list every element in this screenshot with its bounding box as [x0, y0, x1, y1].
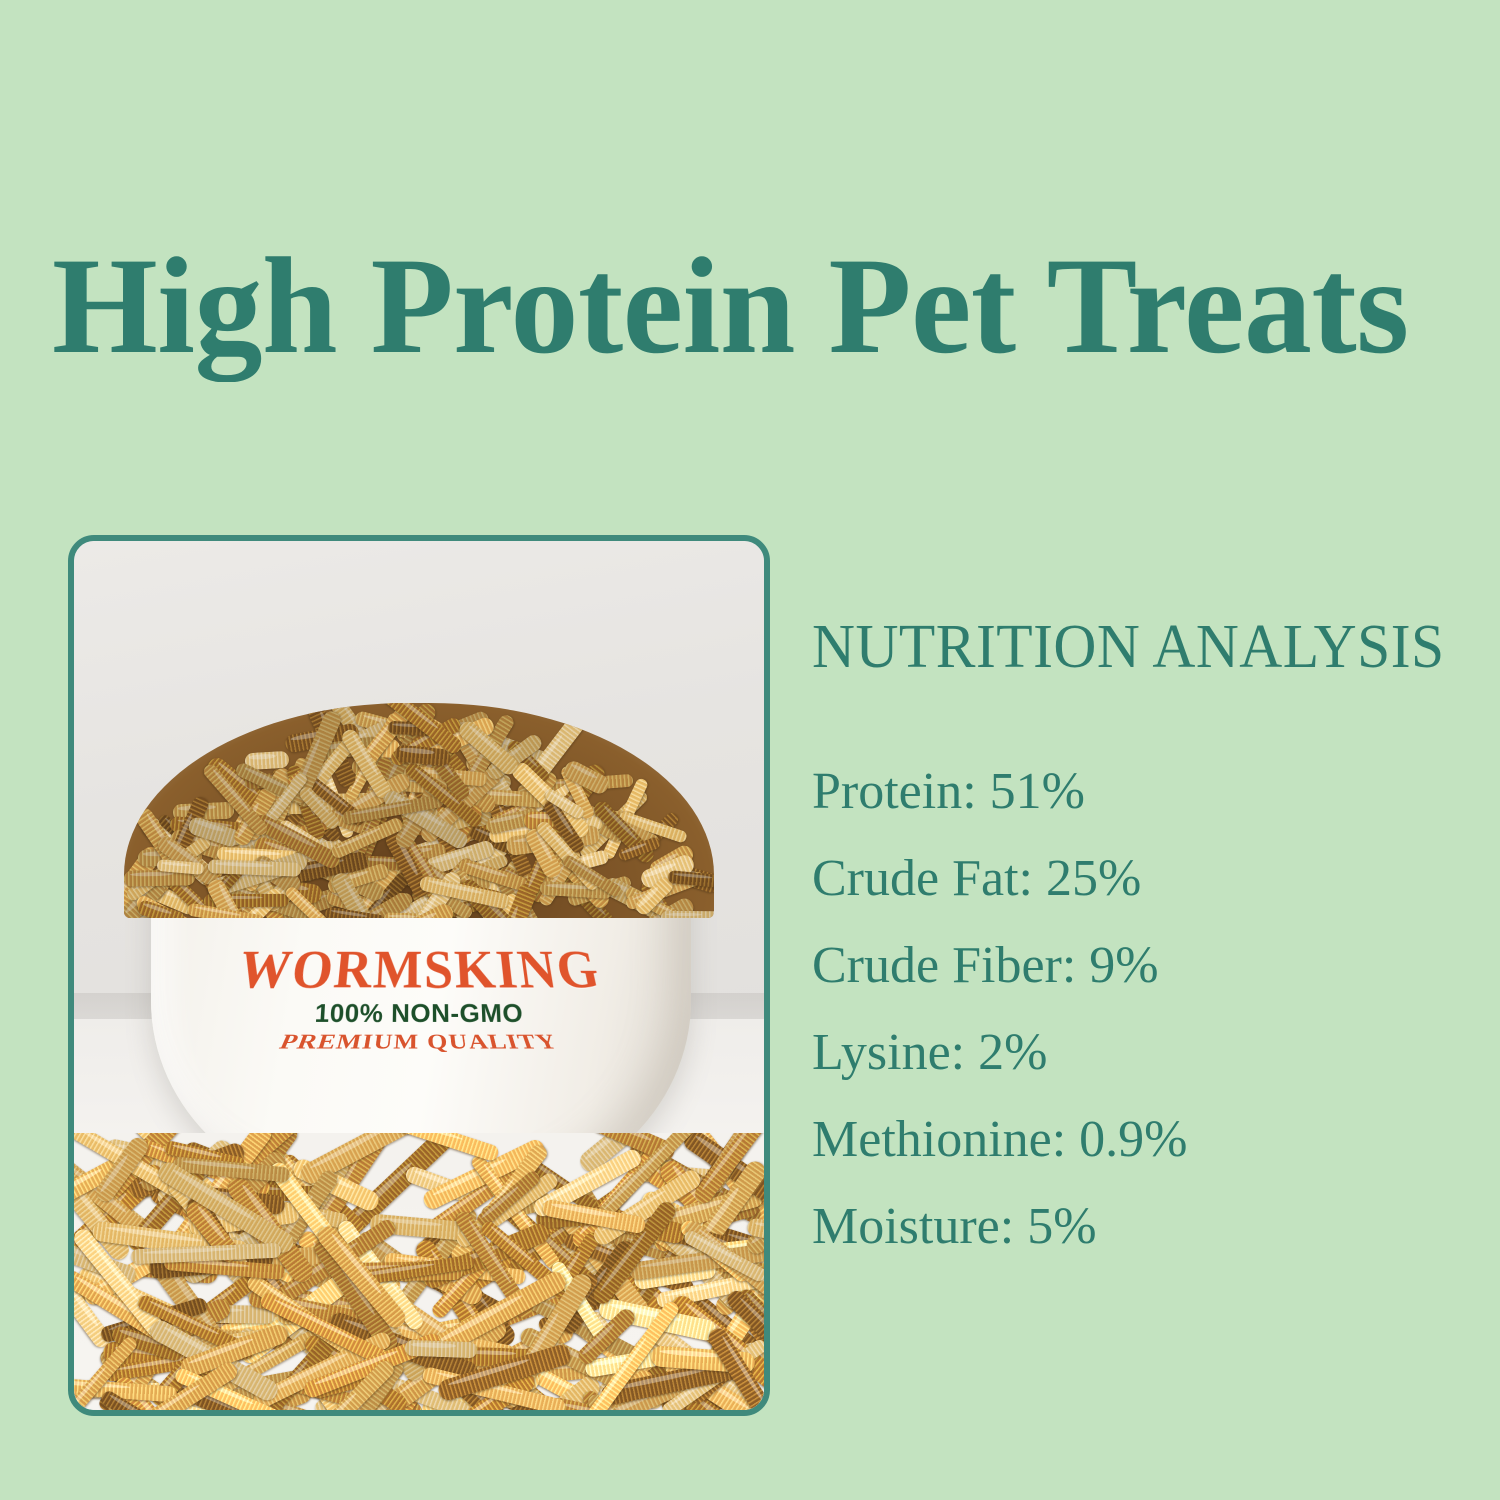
- mealworm: [661, 911, 714, 918]
- nutrition-item: Protein: 51%: [812, 748, 1472, 835]
- scattered-mealworms: [74, 1133, 764, 1410]
- mealworm: [405, 1339, 478, 1358]
- nutrition-list: Protein: 51%Crude Fat: 25%Crude Fiber: 9…: [812, 748, 1472, 1270]
- page-title: High Protein Pet Treats: [52, 236, 1441, 376]
- nutrition-item: Methionine: 0.9%: [812, 1096, 1472, 1183]
- nutrition-item: Moisture: 5%: [812, 1183, 1472, 1270]
- nutrition-item: Crude Fat: 25%: [812, 835, 1472, 922]
- product-photo-card: WORMSKING 100% NON-GMO PREMIUM QUALITY: [68, 535, 770, 1416]
- nutrition-heading: NUTRITION ANALYSIS: [812, 612, 1446, 682]
- nutrition-item: Crude Fiber: 9%: [812, 922, 1472, 1009]
- product-photo: WORMSKING 100% NON-GMO PREMIUM QUALITY: [74, 541, 764, 1410]
- product-infographic: High Protein Pet Treats WORMSKING 100% N…: [0, 0, 1500, 1500]
- nutrition-panel: NUTRITION ANALYSIS Protein: 51%Crude Fat…: [812, 612, 1472, 1270]
- nutrition-item: Lysine: 2%: [812, 1009, 1472, 1096]
